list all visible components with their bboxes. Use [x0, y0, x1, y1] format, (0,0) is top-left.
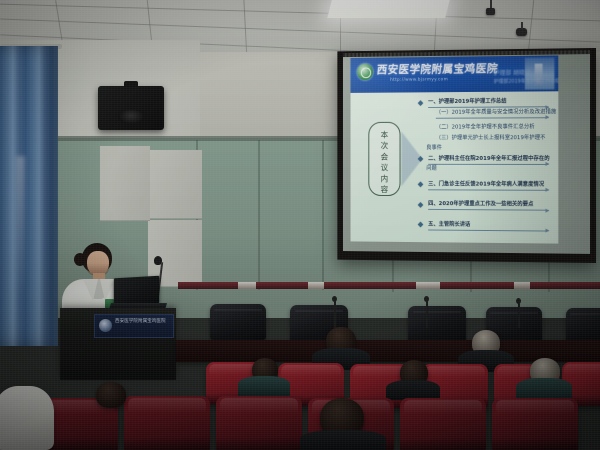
wall-panel — [100, 146, 150, 221]
slide-item: 一、护理部2019年护理工作总结 — [419, 97, 555, 107]
attendee-shoulders — [238, 376, 290, 396]
slide-item-underline — [428, 229, 548, 231]
ceiling-sensor-icon — [486, 8, 495, 15]
attendee-shoulders — [300, 430, 386, 450]
attendee-head — [96, 382, 126, 408]
conference-room-photo: 西安医学院附属宝鸡医院 http://www.bjsrmyy.com 护理部 胡… — [0, 0, 600, 450]
slide-item: （一）2019年全年质量与安全情况分析及改进措施 — [419, 108, 555, 118]
hospital-emblem-icon — [357, 64, 373, 81]
lectern: 西安医学院附属宝鸡医院 — [60, 308, 176, 380]
slide-item: 五、主管院长讲话 — [419, 220, 555, 230]
auditorium-seat — [492, 398, 578, 450]
slide-item: （二）2019年全年护理不良事件汇总分析 — [419, 123, 555, 132]
diamond-bullet-icon — [418, 202, 423, 208]
presenter-collar-left — [83, 279, 98, 301]
slide-item-text: 二、护理科主任在院2019年全年汇报过程中存在的 — [428, 155, 554, 163]
speaker-cone — [118, 110, 144, 124]
slide-item: 二、护理科主任在院2019年全年汇报过程中存在的 — [419, 155, 555, 164]
slide-item-text: 四、2020年护理重点工作及一些相关的要点 — [428, 200, 554, 209]
desk-microphone-icon — [518, 302, 520, 328]
auditorium-seat — [216, 396, 302, 450]
slide-item-text: 五、主管院长讲话 — [428, 220, 554, 229]
attendee-shoulders — [386, 380, 440, 400]
desk-microphone-icon — [426, 300, 428, 328]
head-table-chair — [408, 306, 466, 344]
slide-item: 问题 — [419, 165, 555, 174]
presenter-laptop — [110, 277, 162, 310]
auditorium-seat — [124, 396, 210, 450]
lectern-nameplate: 西安医学院附属宝鸡医院 — [94, 314, 174, 338]
desk-microphone-icon — [334, 300, 336, 328]
window-curtain — [0, 46, 58, 346]
slide-item-text: （三）护理单元护士长上报科室2019年护理不 — [436, 134, 555, 143]
wall-panel — [150, 150, 202, 219]
diamond-bullet-icon — [418, 156, 423, 162]
diamond-bullet-icon — [418, 100, 423, 106]
curtain-highlight — [16, 156, 25, 296]
hospital-building-photo — [525, 57, 554, 89]
auditorium-seat — [400, 398, 486, 450]
slide-item-text: 良事件 — [426, 144, 554, 152]
head-table-chair — [210, 304, 266, 340]
slide-banner-url: http://www.bjsrmyy.com — [390, 77, 448, 82]
slide-item-text: （一）2019年全年质量与安全情况分析及改进措施 — [436, 108, 555, 117]
slide-banner: 西安医学院附属宝鸡医院 http://www.bjsrmyy.com 护理部 胡… — [350, 55, 558, 92]
slide-sidebox: 本次会议内容 — [368, 122, 400, 196]
white-chair-cover — [0, 386, 54, 450]
slide-item: 三、门急诊主任反馈2019年全年病人满意度情况 — [419, 180, 555, 189]
attendee-shoulders — [516, 378, 572, 400]
hospital-emblem-icon — [99, 319, 112, 332]
slide-item: 四、2020年护理重点工作及一些相关的要点 — [419, 200, 555, 210]
diamond-bullet-icon — [418, 182, 423, 188]
screen-surface: 西安医学院附属宝鸡医院 http://www.bjsrmyy.com 护理部 胡… — [343, 54, 590, 254]
slide-item-text: （二）2019年全年护理不良事件汇总分析 — [436, 123, 555, 132]
presentation-slide: 西安医学院附属宝鸡医院 http://www.bjsrmyy.com 护理部 胡… — [350, 55, 558, 243]
slide-item-text: 问题 — [426, 165, 554, 174]
lectern-plate-text: 西安医学院附属宝鸡医院 — [115, 319, 170, 325]
diamond-bullet-icon — [418, 222, 423, 228]
wall-speaker-icon — [98, 86, 164, 130]
slide-item-text: 一、护理部2019年护理工作总结 — [428, 97, 554, 106]
slide-institution-name: 西安医学院附属宝鸡医院 — [376, 61, 490, 77]
projection-screen: 西安医学院附属宝鸡医院 http://www.bjsrmyy.com 护理部 胡… — [337, 48, 596, 263]
slide-sidebox-title: 本次会议内容 — [379, 131, 389, 197]
slide-content-list: 一、护理部2019年护理工作总结 （一）2019年全年质量与安全情况分析及改进措… — [419, 97, 555, 239]
slide-item-text: 三、门急诊主任反馈2019年全年病人满意度情况 — [428, 180, 554, 189]
slide-item: 良事件 — [419, 144, 555, 153]
presenter-hair-bun — [74, 253, 86, 266]
front-rail — [178, 282, 600, 289]
ceiling-light-panel — [327, 0, 450, 18]
ceiling-speaker-icon — [516, 28, 527, 36]
slide-item: （三）护理单元护士长上报科室2019年护理不 — [419, 134, 555, 143]
